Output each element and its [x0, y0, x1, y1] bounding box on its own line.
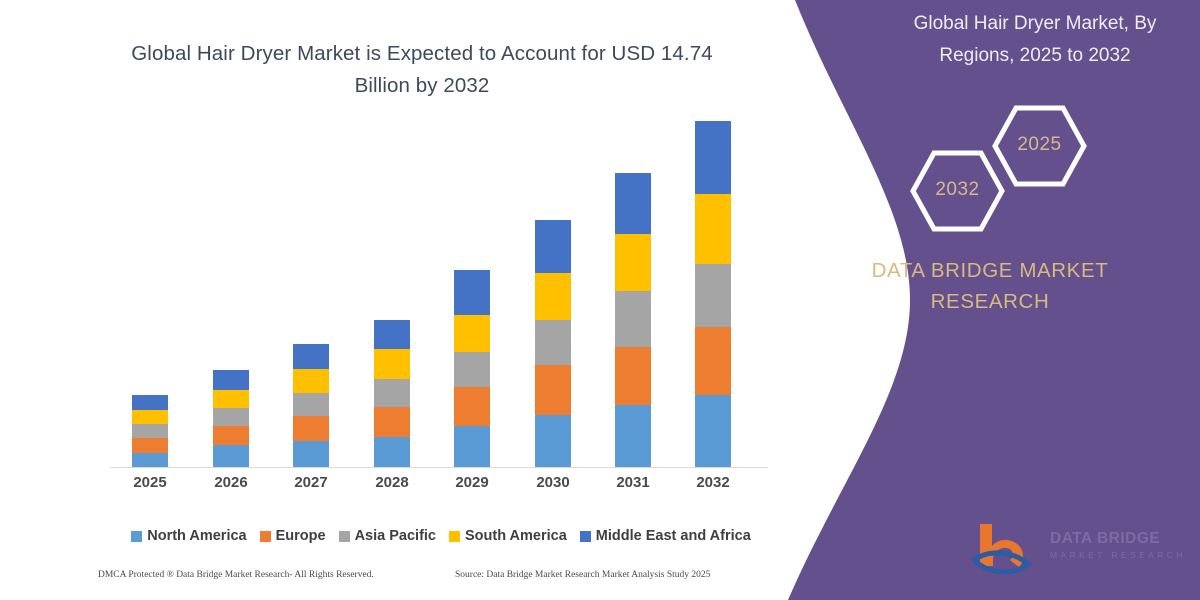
bar-group[interactable] — [293, 344, 329, 467]
bar-segment[interactable] — [615, 234, 651, 291]
legend-item[interactable]: Asia Pacific — [339, 528, 436, 544]
x-axis-label: 2027 — [276, 474, 346, 491]
bar-segment[interactable] — [374, 379, 410, 408]
hexagon-2032: 2032 — [910, 150, 1005, 232]
bar-segment[interactable] — [695, 194, 731, 264]
bar-segment[interactable] — [454, 270, 490, 314]
chart-legend: North AmericaEuropeAsia PacificSouth Ame… — [110, 528, 772, 544]
bar-segment[interactable] — [615, 347, 651, 406]
bar-segment[interactable] — [293, 369, 329, 393]
bar-segment[interactable] — [454, 426, 490, 467]
bar-segment[interactable] — [695, 264, 731, 327]
legend-label: North America — [147, 528, 246, 544]
bar-segment[interactable] — [695, 327, 731, 395]
bar-segment[interactable] — [535, 415, 571, 467]
bar-group[interactable] — [374, 320, 410, 467]
stacked-bar-chart — [110, 120, 770, 468]
x-axis-label: 2032 — [678, 474, 748, 491]
legend-item[interactable]: Middle East and Africa — [580, 528, 751, 544]
legend-item[interactable]: Europe — [260, 528, 326, 544]
bar-segment[interactable] — [454, 352, 490, 387]
legend-label: South America — [465, 528, 567, 544]
bar-segment[interactable] — [535, 273, 571, 321]
legend-swatch-icon — [580, 531, 591, 542]
bar-segment[interactable] — [535, 320, 571, 365]
bar-segment[interactable] — [535, 220, 571, 273]
x-axis-label: 2025 — [115, 474, 185, 491]
bar-segment[interactable] — [695, 121, 731, 194]
bar-group[interactable] — [615, 173, 651, 467]
bar-segment[interactable] — [132, 438, 168, 452]
bar-group[interactable] — [213, 370, 249, 467]
bar-group[interactable] — [695, 121, 731, 467]
bar-segment[interactable] — [374, 349, 410, 379]
bar-segment[interactable] — [535, 365, 571, 415]
bar-segment[interactable] — [615, 291, 651, 346]
bar-segment[interactable] — [213, 445, 249, 467]
brand-panel: Global Hair Dryer Market, By Regions, 20… — [780, 0, 1200, 600]
bar-group[interactable] — [132, 395, 168, 467]
hexagon-group: 2032 2025 — [900, 105, 1100, 230]
bar-segment[interactable] — [213, 390, 249, 409]
bar-segment[interactable] — [293, 441, 329, 468]
legend-label: Asia Pacific — [355, 528, 436, 544]
logo-subtitle: MARKET RESEARCH — [1050, 548, 1190, 562]
bar-segment[interactable] — [454, 387, 490, 426]
x-axis-label: 2028 — [357, 474, 427, 491]
x-axis-label: 2029 — [437, 474, 507, 491]
x-axis-line — [110, 467, 768, 468]
bar-segment[interactable] — [132, 424, 168, 438]
bar-segment[interactable] — [293, 393, 329, 416]
bar-segment[interactable] — [213, 370, 249, 390]
brand-name: DATA BRIDGE MARKET RESEARCH — [820, 255, 1160, 317]
bar-group[interactable] — [454, 270, 490, 467]
page-title: Global Hair Dryer Market is Expected to … — [112, 38, 732, 102]
footer-source: Source: Data Bridge Market Research Mark… — [455, 570, 710, 580]
bar-segment[interactable] — [615, 173, 651, 234]
legend-swatch-icon — [131, 531, 142, 542]
hexagon-2025: 2025 — [992, 105, 1087, 187]
bar-segment[interactable] — [454, 315, 490, 353]
hexagon-2025-label: 2025 — [992, 134, 1087, 156]
bar-segment[interactable] — [132, 410, 168, 424]
legend-swatch-icon — [260, 531, 271, 542]
legend-label: Europe — [276, 528, 326, 544]
footer: DMCA Protected ® Data Bridge Market Rese… — [0, 568, 790, 588]
logo-text: DATA BRIDGE MARKET RESEARCH — [1050, 529, 1190, 562]
legend-swatch-icon — [449, 531, 460, 542]
data-bridge-logo-icon — [972, 520, 1044, 578]
x-axis-label: 2031 — [598, 474, 668, 491]
bar-segment[interactable] — [132, 453, 168, 467]
bar-group[interactable] — [535, 220, 571, 467]
x-axis-label: 2026 — [196, 474, 266, 491]
bar-segment[interactable] — [374, 407, 410, 437]
bar-segment[interactable] — [615, 405, 651, 467]
infographic-root: Global Hair Dryer Market is Expected to … — [0, 0, 1200, 600]
logo-title: DATA BRIDGE — [1050, 529, 1190, 548]
bar-segment[interactable] — [374, 437, 410, 467]
legend-item[interactable]: North America — [131, 528, 246, 544]
bar-segment[interactable] — [213, 408, 249, 426]
hexagon-2032-label: 2032 — [910, 179, 1005, 201]
legend-label: Middle East and Africa — [596, 528, 751, 544]
bar-segment[interactable] — [293, 344, 329, 368]
bar-segment[interactable] — [374, 320, 410, 349]
bar-segment[interactable] — [132, 395, 168, 409]
legend-item[interactable]: South America — [449, 528, 567, 544]
bar-segment[interactable] — [293, 416, 329, 440]
panel-title: Global Hair Dryer Market, By Regions, 20… — [885, 8, 1185, 72]
x-axis-labels: 20252026202720282029203020312032 — [110, 474, 770, 498]
bar-segment[interactable] — [695, 395, 731, 467]
bar-segment[interactable] — [213, 426, 249, 445]
company-logo: DATA BRIDGE MARKET RESEARCH — [972, 520, 1187, 582]
footer-copyright: DMCA Protected ® Data Bridge Market Rese… — [98, 570, 374, 580]
legend-swatch-icon — [339, 531, 350, 542]
x-axis-label: 2030 — [518, 474, 588, 491]
